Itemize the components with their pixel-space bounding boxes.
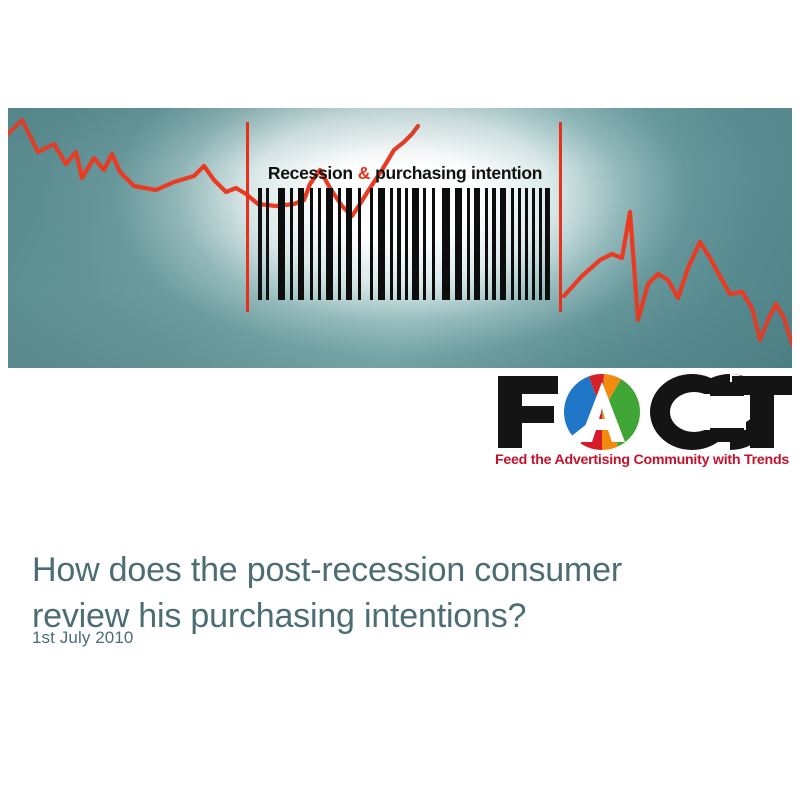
logo-letter-f <box>498 376 558 448</box>
barcode-bar <box>405 188 408 300</box>
barcode-bar <box>278 188 285 300</box>
barcode-bar <box>326 188 333 300</box>
barcode-bar <box>318 188 321 300</box>
barcode-bar <box>511 188 514 300</box>
fact-logo: Feed the Advertising Community with Tren… <box>492 370 792 482</box>
barcode-label-ampersand: & <box>358 163 370 184</box>
barcode-red-guard-right <box>559 122 562 312</box>
logo-letter-a-mark <box>564 374 640 450</box>
barcode-bar <box>442 188 450 300</box>
barcode-bar <box>370 188 373 300</box>
barcode-bar <box>390 188 393 300</box>
barcode-guard-bar <box>258 188 262 300</box>
fact-wordmark-icon <box>492 370 792 452</box>
slide-date: 1st July 2010 <box>32 628 133 648</box>
barcode-bar <box>545 188 549 300</box>
barcode-bar <box>338 188 341 300</box>
barcode-bar <box>539 188 542 300</box>
page-title-line-2: review his purchasing intentions? <box>32 593 762 639</box>
barcode-red-guard-left <box>246 122 249 312</box>
barcode-bar <box>500 188 506 300</box>
barcode-label-prefix: Recession <box>268 163 353 184</box>
barcode-bar <box>346 188 352 300</box>
hero-banner: Recession & purchasing intention <box>8 108 792 368</box>
barcode-bar <box>358 188 361 300</box>
barcode-bar <box>423 188 426 300</box>
barcode-graphic: Recession & purchasing intention <box>246 158 562 310</box>
page-title: How does the post-recession consumer rev… <box>32 547 762 639</box>
logo-tagline: Feed the Advertising Community with Tren… <box>492 452 792 468</box>
barcode-bar <box>397 188 401 300</box>
barcode-bar <box>467 188 470 300</box>
barcode-bar <box>455 188 462 300</box>
barcode-bar <box>492 188 496 300</box>
barcode-bar <box>532 188 535 300</box>
barcode-bar <box>485 188 488 300</box>
barcode-guard-bar <box>266 188 269 300</box>
title-slide: Recession & purchasing intention <box>0 0 800 800</box>
barcode-bar <box>412 188 419 300</box>
barcode-bar <box>518 188 521 300</box>
barcode-bar <box>378 188 385 300</box>
barcode-label: Recession & purchasing intention <box>260 158 550 188</box>
barcode-bar <box>474 188 480 300</box>
barcode-bar <box>298 188 304 300</box>
barcode-bar <box>290 188 293 300</box>
barcode-bars <box>252 188 556 300</box>
barcode-label-suffix: purchasing intention <box>375 163 542 184</box>
barcode-bar <box>525 188 528 300</box>
barcode-bar <box>310 188 313 300</box>
barcode-bar <box>432 188 435 300</box>
page-title-line-1: How does the post-recession consumer <box>32 551 622 589</box>
